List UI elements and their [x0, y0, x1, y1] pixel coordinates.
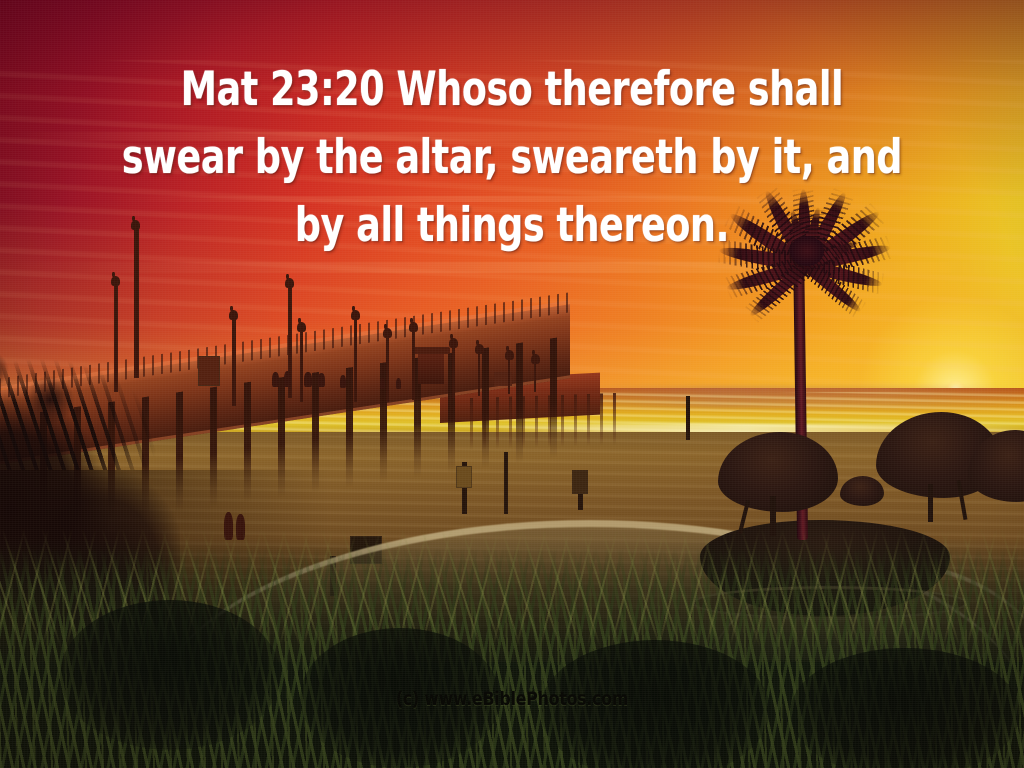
lamp-head-icon [351, 310, 360, 320]
palm-tree-silhouette [700, 110, 912, 300]
pier-lamp-post [232, 318, 236, 406]
lamp-head-icon [229, 310, 238, 320]
beach-post [686, 396, 690, 440]
lamp-head-icon [383, 328, 392, 338]
lamp-head-icon [285, 278, 294, 288]
pier-figure [304, 372, 312, 387]
pier-lamp-post [386, 336, 389, 402]
grass-clump [60, 600, 280, 750]
pier-end-building [418, 352, 444, 384]
watermark-credit: (c) www.eBiblePhotos.com [41, 688, 983, 710]
verse-image: Mat 23:20 Whoso therefore shall swear by… [0, 0, 1024, 768]
pier-lamp-post [534, 362, 536, 392]
palm-crown-center [790, 236, 824, 266]
bush-silhouette [840, 476, 884, 506]
beach-sign [456, 466, 472, 488]
pier-figure [318, 373, 325, 387]
bush-trunk [928, 484, 933, 522]
pier-kiosk [198, 356, 220, 386]
lamp-head-icon [505, 350, 514, 360]
pier-figure [284, 371, 291, 387]
pier-figure [380, 378, 385, 389]
lamp-head-icon [409, 322, 418, 332]
beach-sign [572, 470, 588, 494]
pier-figure [272, 372, 279, 387]
pier-lamp-post [354, 318, 357, 402]
pier-lamp-post [508, 358, 510, 394]
pier-figure [340, 375, 346, 388]
lamp-head-icon [449, 338, 458, 348]
pier-lamp-post [300, 330, 303, 402]
lamp-head-icon [111, 276, 120, 286]
lamp-head-icon [131, 220, 140, 230]
pier-figure [396, 378, 401, 389]
lamp-head-icon [297, 322, 306, 332]
lamp-head-icon [531, 354, 540, 364]
foreground-left-branches [0, 330, 180, 470]
pier-lamp-post [478, 352, 480, 396]
beach-post [504, 452, 508, 514]
pier-lamp-post [412, 330, 415, 400]
lamp-head-icon [475, 344, 484, 354]
pier-lamp-post [452, 346, 455, 398]
